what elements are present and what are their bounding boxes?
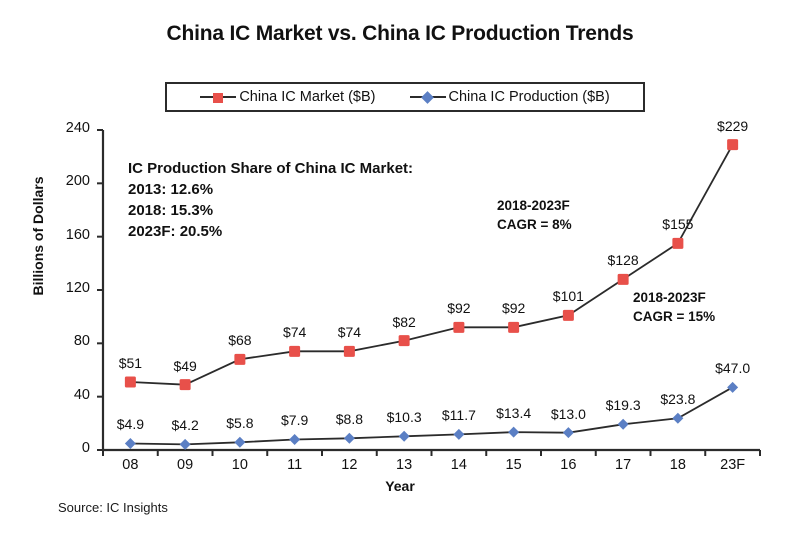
cagr-market-annotation: 2018-2023F CAGR = 8%: [497, 196, 572, 234]
market-value-label: $51: [100, 355, 160, 371]
market-value-label: $229: [703, 118, 763, 134]
chart-container: China IC Market vs. China IC Production …: [0, 0, 800, 550]
market-value-label: $74: [319, 324, 379, 340]
plot-area: [0, 0, 800, 550]
market-value-label: $74: [265, 324, 325, 340]
market-value-label: $68: [210, 332, 270, 348]
market-value-label: $92: [429, 300, 489, 316]
production-value-label: $4.9: [100, 416, 160, 432]
production-value-label: $5.8: [210, 415, 270, 431]
production-value-label: $11.7: [429, 407, 489, 423]
market-value-label: $155: [648, 216, 708, 232]
production-value-label: $7.9: [265, 412, 325, 428]
market-value-label: $101: [538, 288, 598, 304]
production-value-label: $47.0: [703, 360, 763, 376]
production-value-label: $10.3: [374, 409, 434, 425]
production-share-annotation: IC Production Share of China IC Market: …: [128, 158, 413, 242]
production-value-label: $19.3: [593, 397, 653, 413]
production-value-label: $13.0: [538, 406, 598, 422]
production-value-label: $23.8: [648, 391, 708, 407]
production-value-label: $13.4: [484, 405, 544, 421]
cagr-production-annotation: 2018-2023F CAGR = 15%: [633, 288, 715, 326]
market-value-label: $128: [593, 252, 653, 268]
market-value-label: $82: [374, 314, 434, 330]
market-value-label: $92: [484, 300, 544, 316]
source-note: Source: IC Insights: [58, 500, 168, 515]
market-value-label: $49: [155, 358, 215, 374]
production-value-label: $8.8: [319, 411, 379, 427]
production-value-label: $4.2: [155, 417, 215, 433]
